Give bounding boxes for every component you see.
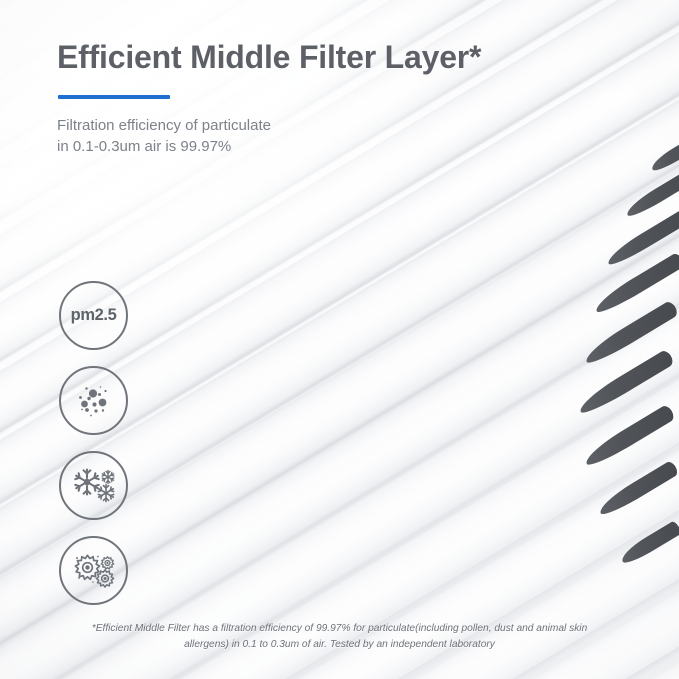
badge-particles [59,366,128,435]
pollen-gear-icon [68,545,120,597]
badge-pm25: pm2.5 [59,281,128,350]
product-feature-banner: Efficient Middle Filter Layer* Filtratio… [0,0,679,679]
dust-particles-icon [69,376,119,426]
footnote-disclaimer: *Efficient Middle Filter has a filtratio… [0,621,679,653]
badge-pollen [59,536,128,605]
headline-block: Efficient Middle Filter Layer* Filtratio… [57,40,481,157]
page-title: Efficient Middle Filter Layer* [57,40,481,76]
pm25-label: pm2.5 [71,306,117,325]
page-subtitle: Filtration efficiency of particulate in … [57,115,481,158]
snowflake-icon [68,460,120,512]
accent-rule [58,95,170,99]
feature-badge-list: pm2.5 [59,281,128,621]
badge-snowflakes [59,451,128,520]
